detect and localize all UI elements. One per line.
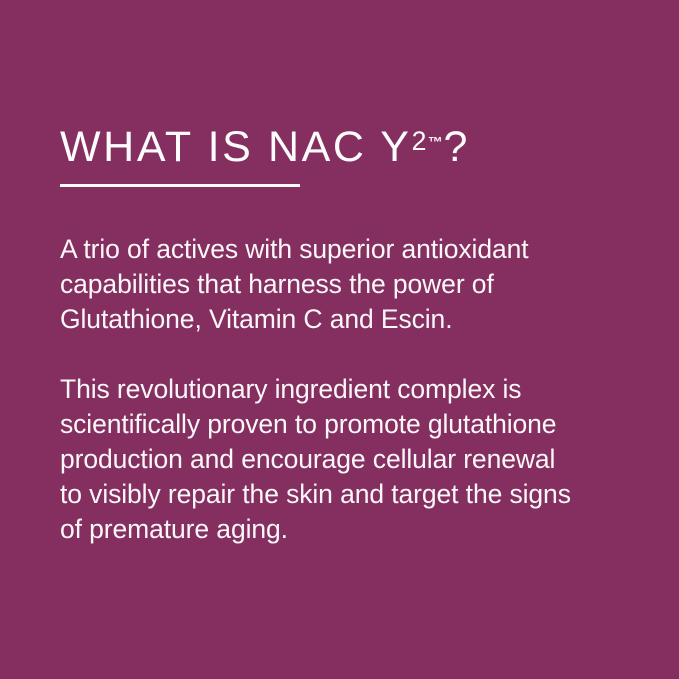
body-copy: A trio of actives with superior antioxid…: [60, 232, 645, 547]
body-paragraph-2: This revolutionary ingredient complex is…: [60, 372, 645, 547]
superscript-two-glyph: 2: [412, 126, 427, 156]
page-title-main-text: WHAT IS NAC Y: [60, 123, 412, 171]
info-panel: WHAT IS NAC Y2™? A trio of actives with …: [0, 0, 679, 679]
content-column: WHAT IS NAC Y2™? A trio of actives with …: [60, 0, 645, 679]
heading-underline-rule: [60, 184, 300, 187]
page-title: WHAT IS NAC Y2™?: [60, 118, 645, 170]
page-title-question-mark: ?: [444, 123, 468, 171]
trademark-icon: ™: [428, 135, 443, 151]
heading-block: WHAT IS NAC Y2™?: [60, 118, 645, 170]
body-paragraph-1: A trio of actives with superior antioxid…: [60, 232, 645, 337]
